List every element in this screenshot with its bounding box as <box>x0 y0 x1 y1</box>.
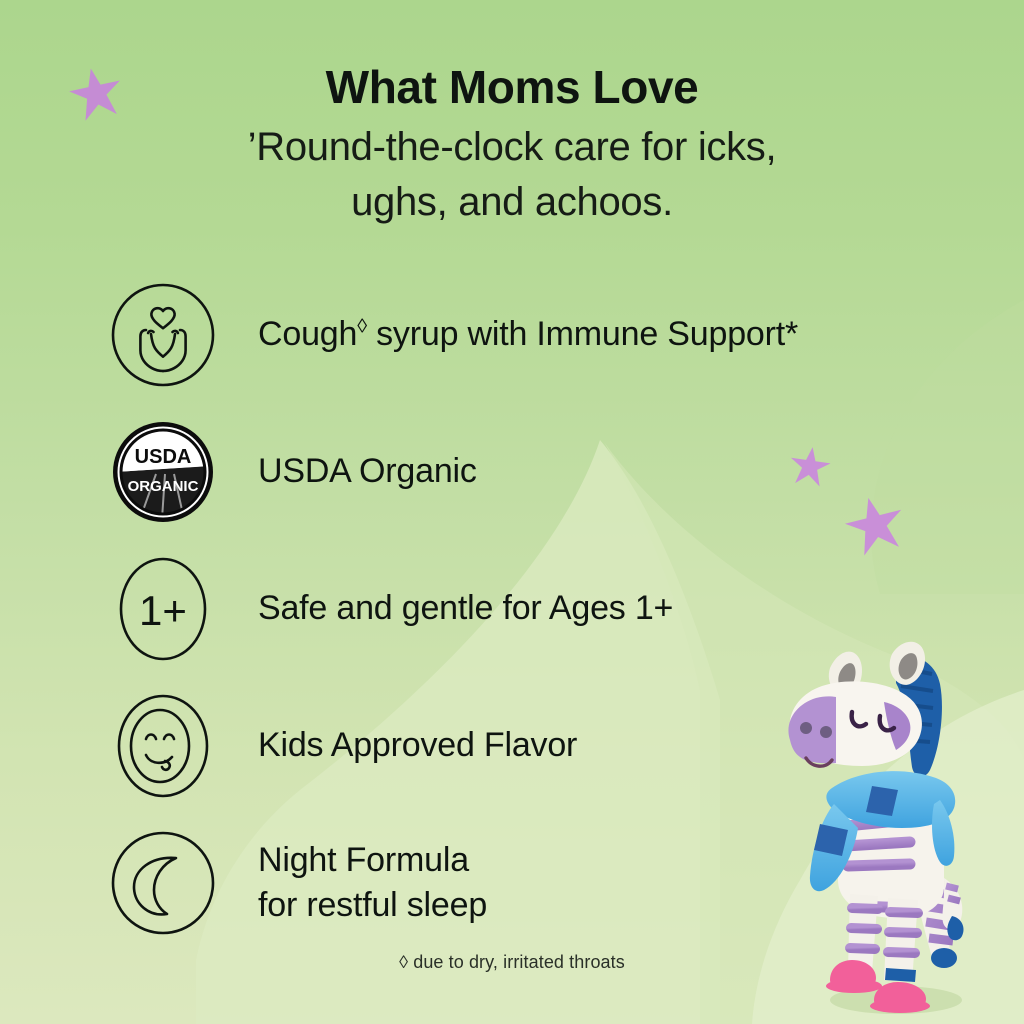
crescent-moon-icon <box>110 830 216 936</box>
feature-label-line-2: for restful sleep <box>258 883 487 927</box>
feature-label-text: Cough <box>258 315 357 353</box>
feature-label-night-formula: Night Formula for restful sleep <box>258 838 487 926</box>
subtitle-line-2: ughs, and achoos. <box>0 175 1024 229</box>
smiley-face-icon <box>110 693 216 799</box>
feature-row-cough-syrup: Cough◊ syrup with Immune Support* <box>110 282 990 387</box>
page-subtitle: ’Round-the-clock care for icks, ughs, an… <box>0 120 1024 229</box>
svg-text:1+: 1+ <box>139 587 187 634</box>
feature-label-flavor: Kids Approved Flavor <box>258 723 577 767</box>
usda-seal-bottom-text: ORGANIC <box>128 478 199 495</box>
hands-holding-heart-icon <box>110 282 216 388</box>
feature-label-line-1: Night Formula <box>258 838 487 882</box>
age-one-plus-icon: 1+ <box>110 556 216 662</box>
footnote-marker-lozenge: ◊ <box>357 316 367 338</box>
feature-label-usda-organic: USDA Organic <box>258 449 477 493</box>
feature-label-text-cont: syrup with Immune Support* <box>367 315 798 353</box>
feature-row-usda-organic: USDA ORGANIC USDA Organic <box>110 419 990 524</box>
page-title: What Moms Love <box>0 60 1024 114</box>
header-block: What Moms Love ’Round-the-clock care for… <box>0 60 1024 229</box>
feature-label-ages: Safe and gentle for Ages 1+ <box>258 586 673 630</box>
usda-seal-top-text: USDA <box>135 446 192 468</box>
subtitle-line-1: ’Round-the-clock care for icks, <box>0 120 1024 174</box>
footnote-text: ◊ due to dry, irritated throats <box>0 952 1024 973</box>
usda-organic-seal-icon: USDA ORGANIC <box>110 419 216 525</box>
feature-label-cough-syrup: Cough◊ syrup with Immune Support* <box>258 312 798 356</box>
product-feature-poster: What Moms Love ’Round-the-clock care for… <box>0 0 1024 1024</box>
